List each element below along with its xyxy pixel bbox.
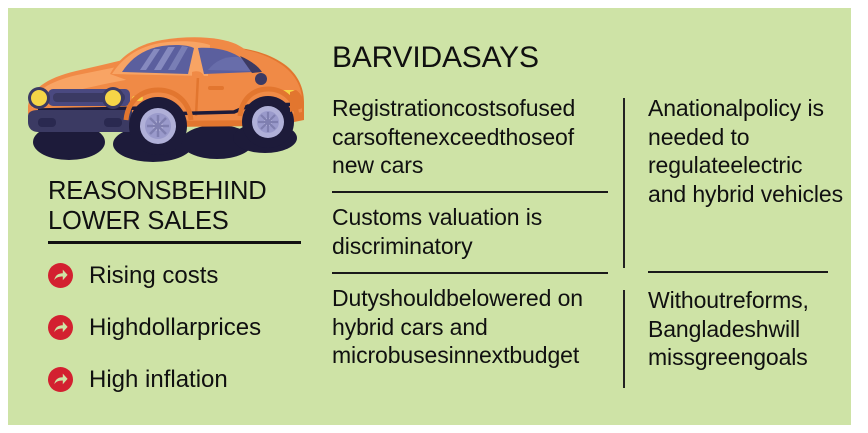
section-title: BARVIDASAYS [332, 40, 539, 76]
quote-block: Withoutreforms, Bangladeshwill missgreen… [648, 286, 846, 372]
quote-text: Anationalpolicy is needed to regulateele… [648, 94, 846, 208]
quote-block: Customs valuation is discriminatory [332, 203, 615, 260]
quote-divider [648, 271, 828, 273]
reasons-heading: REASONSBEHIND LOWER SALES [48, 176, 314, 236]
quote-text: Customs valuation is discriminatory [332, 203, 615, 260]
orange-sports-car-illustration [12, 20, 316, 172]
quote-text: Withoutreforms, Bangladeshwill missgreen… [648, 286, 846, 372]
column-separator-bottom [623, 290, 625, 388]
list-item: Highdollarprices [48, 306, 318, 348]
list-item: Rising costs [48, 254, 318, 296]
quote-block: Registrationcostsofused carsoftenexceedt… [332, 94, 615, 180]
red-circle-arrow-icon [48, 367, 73, 392]
quote-block: Dutyshouldbelowered on hybrid cars and m… [332, 284, 615, 370]
reasons-divider [48, 241, 301, 244]
quote-divider [332, 272, 608, 274]
quote-text: Dutyshouldbelowered on hybrid cars and m… [332, 284, 615, 370]
red-circle-arrow-icon [48, 263, 73, 288]
quote-block: Anationalpolicy is needed to regulateele… [648, 94, 846, 208]
list-item-label: Rising costs [89, 262, 218, 289]
red-circle-arrow-icon [48, 315, 73, 340]
list-item-label: Highdollarprices [89, 314, 261, 341]
list-item-label: High inflation [89, 366, 228, 393]
infographic-panel: REASONSBEHIND LOWER SALES Rising costs H… [8, 8, 851, 425]
list-item: High inflation [48, 358, 318, 400]
quote-text: Registrationcostsofused carsoftenexceedt… [332, 94, 615, 180]
column-separator-top [623, 98, 625, 268]
quote-divider [332, 191, 608, 193]
barvida-says-section: BARVIDASAYS Registrationcostsofused cars… [326, 8, 851, 425]
reasons-column: REASONSBEHIND LOWER SALES Rising costs H… [8, 8, 320, 425]
